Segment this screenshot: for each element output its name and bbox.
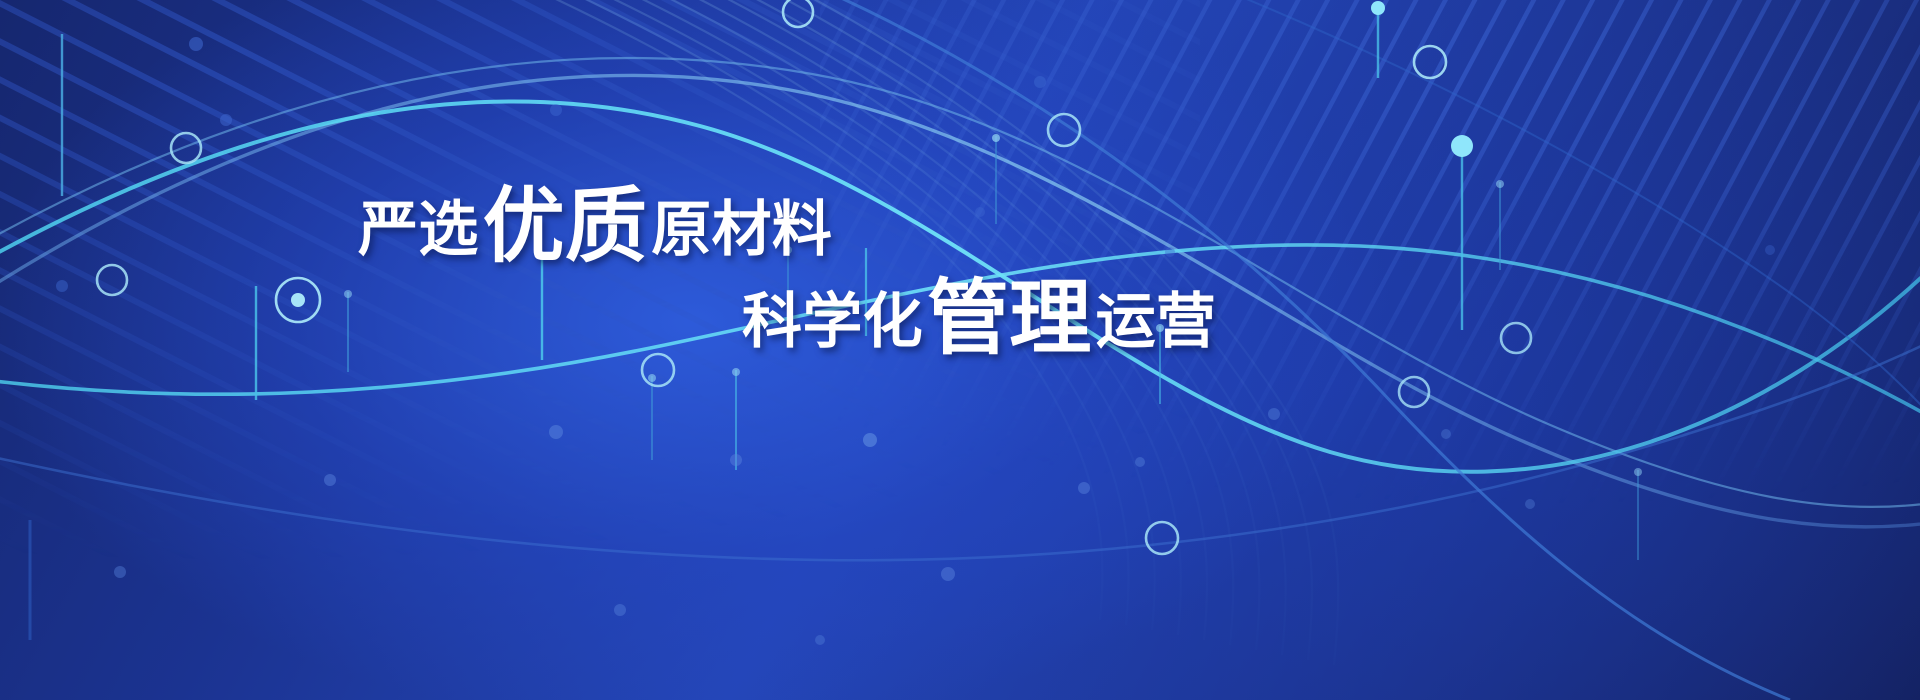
decor-nodes-layer — [0, 0, 1920, 700]
decor-rings — [97, 0, 1531, 554]
pin-lines — [30, 8, 1638, 640]
promo-banner: 严选优质原材料 科学化管理运营 — [0, 0, 1920, 700]
decor-ring-center-dot — [291, 293, 305, 307]
